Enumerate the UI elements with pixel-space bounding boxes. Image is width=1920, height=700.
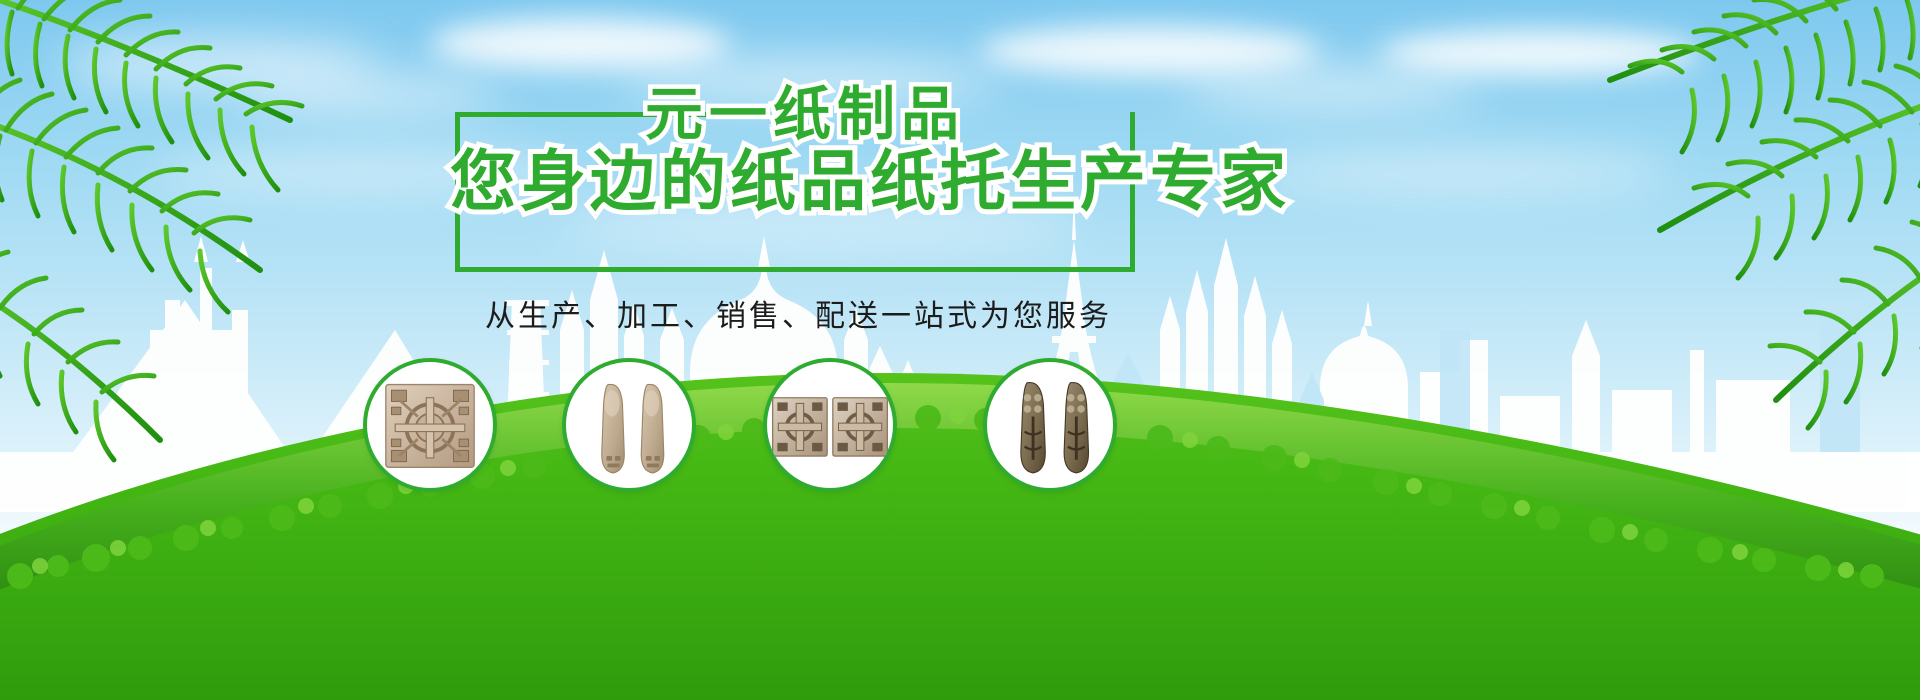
product-circle-molded-pulp-tray-square[interactable] — [363, 358, 497, 492]
product-circle-molded-pulp-double-tray[interactable] — [763, 358, 897, 492]
hero-banner: 元一纸制品 您身边的纸品纸托生产专家 从生产、加工、销售、配送一站式为您服务 — [0, 0, 1920, 700]
product-circle-molded-pulp-shoe-insert-pair[interactable] — [983, 358, 1117, 492]
product-showcase — [0, 0, 1920, 700]
molded-pulp-tray-square-icon — [367, 362, 493, 488]
molded-pulp-shoe-tree-pair-icon — [566, 362, 692, 488]
product-circle-molded-pulp-shoe-tree-pair[interactable] — [562, 358, 696, 492]
molded-pulp-double-tray-icon — [767, 362, 893, 488]
molded-pulp-shoe-insert-pair-icon — [987, 362, 1113, 488]
